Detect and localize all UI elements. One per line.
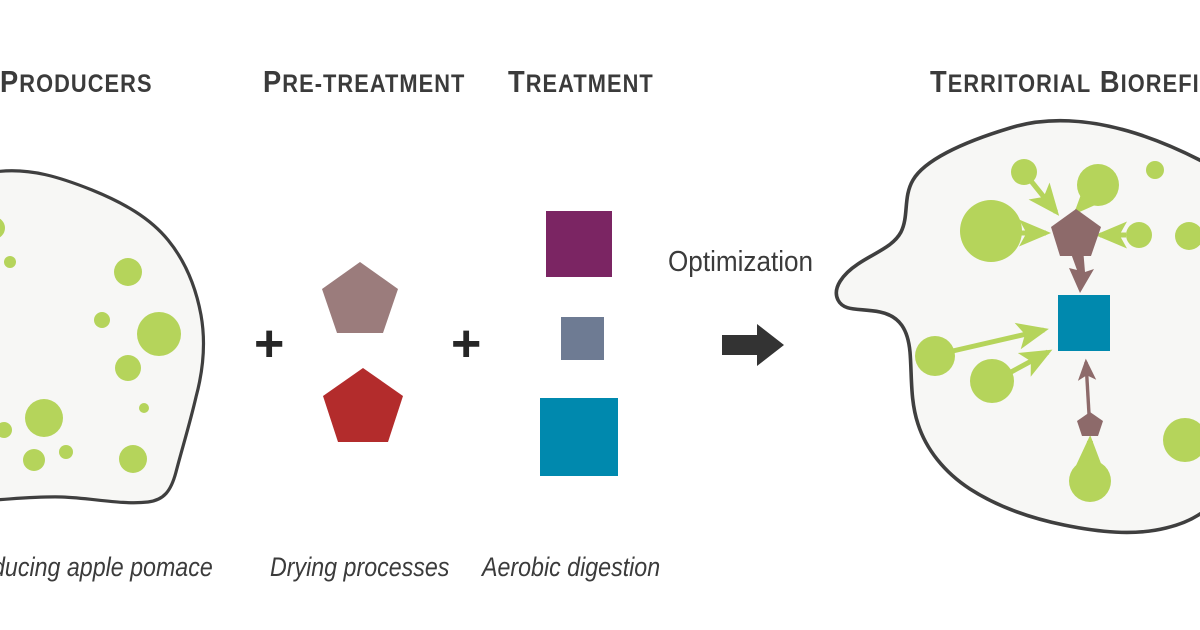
pentagon-mauve-icon (322, 262, 398, 333)
square-slate-icon (561, 317, 604, 360)
square-purple-icon (546, 211, 612, 277)
square-teal-hub-icon (1058, 295, 1110, 351)
plus-connector-2: + (451, 318, 481, 370)
node-circle (1069, 460, 1111, 502)
plus-connector-1: + (254, 318, 284, 370)
pentagon-red-icon (323, 368, 403, 442)
stage-heading-biorefinery: TERRITORIAL BIOREFI (930, 64, 1200, 100)
process-arrow-icon (722, 324, 784, 366)
node-circle (1126, 222, 1152, 248)
stage-caption-pre-treatment: Drying processes (270, 552, 449, 583)
node-circle (1011, 159, 1037, 185)
node-circle (1146, 161, 1164, 179)
treatment-shape-group (540, 211, 618, 476)
pretreatment-shape-group (322, 262, 403, 442)
optimization-label: Optimization (668, 246, 813, 279)
stage-heading-producers: PRODUCERS (0, 64, 153, 100)
biorefinery-blob-group (836, 121, 1200, 533)
diagram-canvas: PRODUCERS PRE-TREATMENT TREATMENT TERRIT… (0, 0, 1200, 630)
stage-caption-treatment: Aerobic digestion (482, 552, 660, 583)
stage-heading-pre-treatment: PRE-TREATMENT (263, 64, 465, 100)
node-circle (970, 359, 1014, 403)
square-teal-icon (540, 398, 618, 476)
producer-blob-group (0, 171, 203, 503)
node-circle (960, 200, 1022, 262)
node-circle (1077, 164, 1119, 206)
stage-heading-treatment: TREATMENT (508, 64, 654, 100)
stage-caption-producers: ducing apple pomace (0, 552, 213, 583)
node-circle (915, 336, 955, 376)
